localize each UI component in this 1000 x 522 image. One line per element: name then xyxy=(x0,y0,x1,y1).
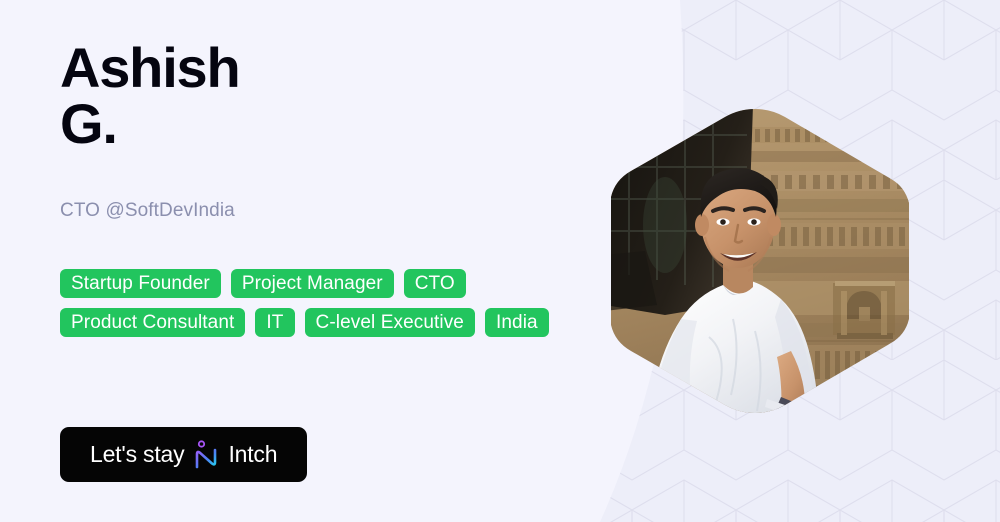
intch-n-logo-icon xyxy=(193,440,219,470)
tag-list: Startup Founder Project Manager CTO Prod… xyxy=(60,269,560,337)
tag-cto[interactable]: CTO xyxy=(404,269,466,298)
person-headline: CTO @SoftDevIndia xyxy=(60,198,235,224)
lets-stay-intch-button[interactable]: Let's stay Intch xyxy=(60,427,307,482)
profile-content: Ashish G. CTO @SoftDevIndia Startup Foun… xyxy=(60,0,620,522)
tag-it[interactable]: IT xyxy=(255,308,294,337)
tag-project-manager[interactable]: Project Manager xyxy=(231,269,394,298)
tag-c-level-executive[interactable]: C-level Executive xyxy=(305,308,475,337)
tag-startup-founder[interactable]: Startup Founder xyxy=(60,269,221,298)
cta-brand-name: Intch xyxy=(228,441,277,468)
profile-photo-hexagon-image xyxy=(605,105,917,417)
tag-product-consultant[interactable]: Product Consultant xyxy=(60,308,245,337)
cta-label: Let's stay xyxy=(90,441,184,468)
page-title: Ashish G. xyxy=(60,40,480,152)
tag-india[interactable]: India xyxy=(485,308,549,337)
profile-photo xyxy=(605,105,917,417)
profile-card: Ashish G. CTO @SoftDevIndia Startup Foun… xyxy=(0,0,1000,522)
